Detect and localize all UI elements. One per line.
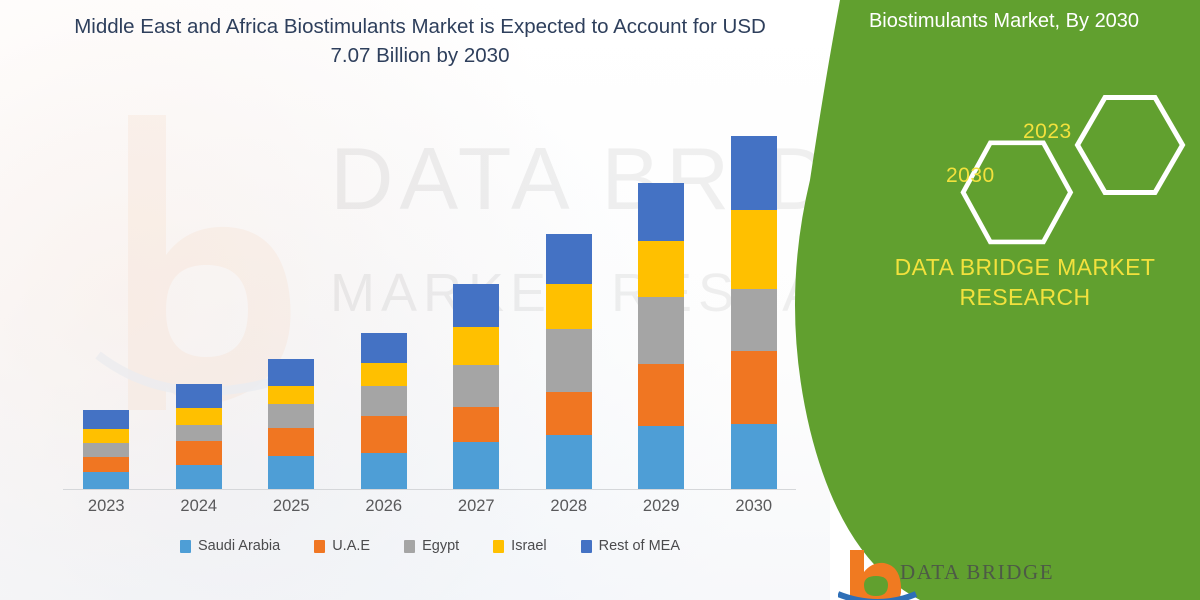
bar-segment (83, 457, 129, 472)
stacked-bar-chart (60, 100, 800, 490)
bar-segment (731, 351, 777, 424)
bar-segment (268, 386, 314, 404)
legend-label: U.A.E (332, 538, 370, 554)
bar-segment (268, 456, 314, 489)
bar-segment (361, 416, 407, 453)
legend-item[interactable]: Saudi Arabia (180, 538, 280, 554)
bar-column (246, 100, 336, 489)
bar-segment (731, 289, 777, 351)
bar-segment (176, 425, 222, 441)
right-green-panel: Biostimulants Market, By 2030 2023 2030 … (780, 0, 1200, 600)
stacked-bar (546, 234, 592, 489)
bar-segment (731, 424, 777, 489)
bar-segment (453, 284, 499, 327)
bar-column (524, 100, 614, 489)
bar-segment (83, 472, 129, 489)
bar-segment (453, 407, 499, 442)
bar-segment (546, 435, 592, 489)
bar-segment (176, 408, 222, 425)
bar-segment (83, 410, 129, 429)
legend-label: Rest of MEA (599, 538, 680, 554)
bar-segment (453, 442, 499, 489)
hexagon-shapes-icon (890, 85, 1190, 260)
legend-label: Egypt (422, 538, 459, 554)
x-axis-tick-label: 2028 (524, 497, 614, 516)
hexagon-group: 2023 2030 (890, 85, 1190, 260)
bar-column (154, 100, 244, 489)
legend-item[interactable]: Israel (493, 538, 546, 554)
bar-segment (176, 384, 222, 408)
bar-segment (638, 364, 684, 426)
bar-segment (638, 297, 684, 364)
footer-logo-text: DATA BRIDGE (900, 560, 1054, 585)
bar-segment (361, 363, 407, 386)
brand-name: DATA BRIDGE MARKET RESEARCH (860, 252, 1190, 313)
legend-swatch (404, 540, 415, 553)
legend-swatch (314, 540, 325, 553)
footer-logo: DATA BRIDGE (838, 550, 1088, 600)
stacked-bar (453, 284, 499, 489)
bar-segment (268, 428, 314, 456)
bar-column (339, 100, 429, 489)
hexagon-label-start: 2023 (1023, 120, 1072, 144)
bar-segment (546, 392, 592, 435)
x-axis-tick-label: 2027 (431, 497, 521, 516)
x-axis-line (63, 489, 796, 490)
legend-label: Israel (511, 538, 546, 554)
x-axis-labels: 20232024202520262027202820292030 (60, 497, 800, 516)
bar-segment (638, 241, 684, 297)
bar-segment (731, 136, 777, 210)
bar-segment (638, 426, 684, 489)
bar-column (61, 100, 151, 489)
stacked-bar (268, 359, 314, 489)
stacked-bar (361, 333, 407, 489)
bar-segment (546, 234, 592, 284)
bar-segment (176, 441, 222, 465)
bar-segment (546, 284, 592, 329)
bar-segment (268, 359, 314, 386)
bar-column (431, 100, 521, 489)
bar-segment (361, 453, 407, 489)
bar-segment (176, 465, 222, 489)
legend-item[interactable]: Egypt (404, 538, 459, 554)
x-axis-tick-label: 2029 (616, 497, 706, 516)
x-axis-tick-label: 2026 (339, 497, 429, 516)
bar-segment (361, 386, 407, 416)
stacked-bar (638, 183, 684, 489)
panel-title: Biostimulants Market, By 2030 (824, 10, 1184, 33)
bar-column (616, 100, 706, 489)
chart-legend: Saudi ArabiaU.A.EEgyptIsraelRest of MEA (60, 538, 800, 554)
x-axis-tick-label: 2025 (246, 497, 336, 516)
bar-segment (83, 429, 129, 443)
hexagon-label-end: 2030 (946, 164, 995, 188)
bar-segment (361, 333, 407, 363)
stacked-bar (83, 410, 129, 489)
bar-segment (731, 210, 777, 289)
infographic-root: DATA BRIDGE MARKET RESEARCH Middle East … (0, 0, 1200, 600)
bar-segment (268, 404, 314, 428)
page-title: Middle East and Africa Biostimulants Mar… (70, 12, 770, 70)
legend-label: Saudi Arabia (198, 538, 280, 554)
bar-segment (83, 443, 129, 457)
bar-segment (546, 329, 592, 392)
legend-item[interactable]: Rest of MEA (581, 538, 680, 554)
legend-swatch (180, 540, 191, 553)
x-axis-tick-label: 2024 (154, 497, 244, 516)
bar-segment (453, 365, 499, 407)
legend-swatch (493, 540, 504, 553)
legend-item[interactable]: U.A.E (314, 538, 370, 554)
bar-group (60, 100, 800, 489)
x-axis-tick-label: 2023 (61, 497, 151, 516)
stacked-bar (176, 384, 222, 489)
bar-segment (453, 327, 499, 365)
legend-swatch (581, 540, 592, 553)
stacked-bar (731, 136, 777, 489)
bar-segment (638, 183, 684, 241)
